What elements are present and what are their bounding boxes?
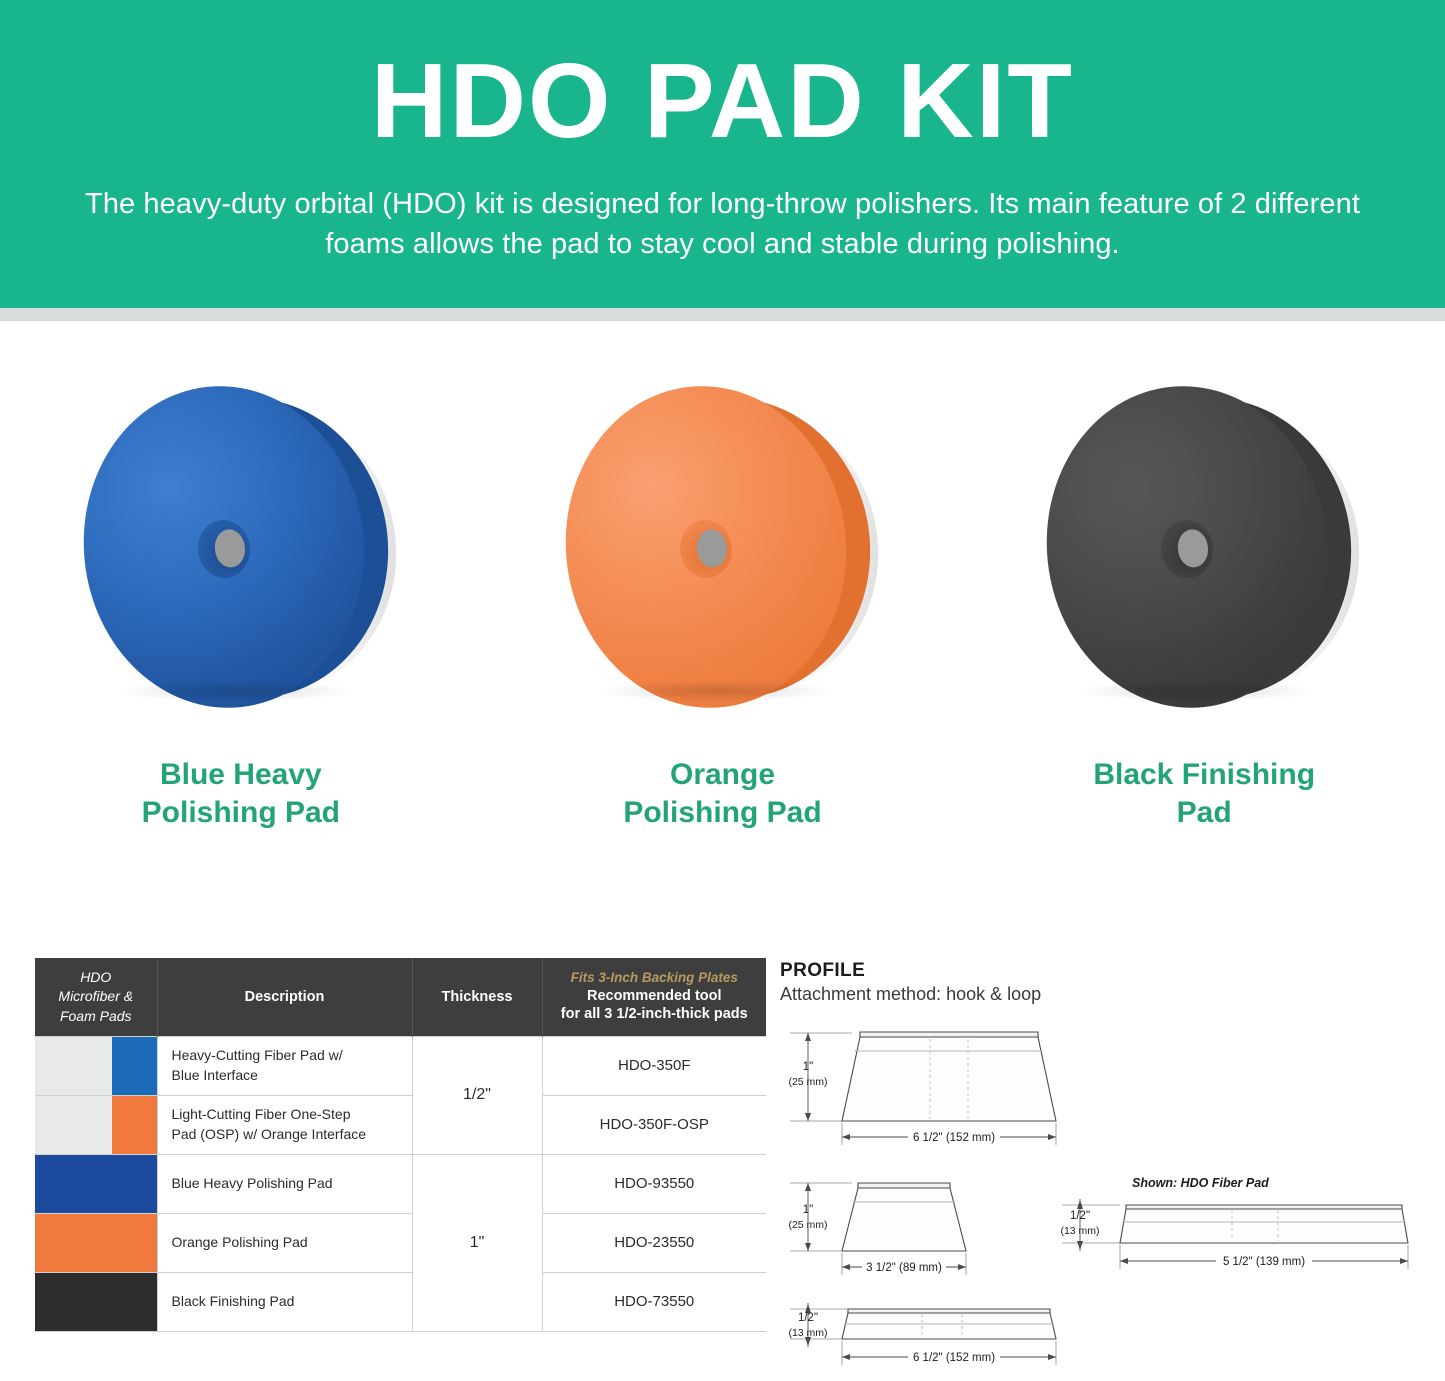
pad-label-black: Black Finishing Pad xyxy=(1093,756,1315,832)
disc-shadow xyxy=(1077,680,1317,702)
col-header-description: Description xyxy=(157,958,412,1036)
table-row: Heavy-Cutting Fiber Pad w/ Blue Interfac… xyxy=(35,1036,766,1095)
dim-height-mm: (13 mm) xyxy=(1060,1225,1099,1237)
dim-height-mm: (13 mm) xyxy=(788,1327,827,1339)
fiber-pad-profile: Shown: HDO Fiber Pad 1/2" (13 mm) 5 1/2"… xyxy=(1060,1176,1408,1269)
profile-diagrams: 1" (25 mm) 6 1/2" (152 mm) 1" (25 xyxy=(780,1019,1440,1349)
thickness-half-inch: 1/2" xyxy=(412,1036,542,1154)
dim-height-in: 1/2" xyxy=(798,1312,818,1324)
profile-section: PROFILE Attachment method: hook & loop 1… xyxy=(780,960,1440,1381)
dim-width: 5 1/2" (139 mm) xyxy=(1223,1256,1305,1268)
col-header-thickness: Thickness xyxy=(412,958,542,1036)
orange-foam-disc xyxy=(558,350,888,740)
row-tool-code: HDO-23550 xyxy=(542,1213,766,1272)
dim-height-mm: (25 mm) xyxy=(788,1076,827,1088)
fits-backing-plates-note: Fits 3-Inch Backing Plates xyxy=(549,970,761,985)
table-row: Light-Cutting Fiber One-Step Pad (OSP) w… xyxy=(35,1095,766,1154)
pad-label-blue: Blue Heavy Polishing Pad xyxy=(142,756,340,832)
pad-card-black: Black Finishing Pad xyxy=(963,350,1445,890)
row-description: Black Finishing Pad xyxy=(157,1272,412,1331)
pad-gallery: Blue Heavy Polishing Pad Orange Polishin… xyxy=(0,350,1445,890)
blue-foam-disc xyxy=(76,350,406,740)
disc-shadow xyxy=(114,680,354,702)
col-header-tool: Fits 3-Inch Backing Plates Recommended t… xyxy=(542,958,766,1036)
swatch-orange xyxy=(35,1213,157,1272)
dim-height-mm: (25 mm) xyxy=(788,1219,827,1231)
profile-title: PROFILE xyxy=(780,960,1440,982)
row-tool-code: HDO-350F xyxy=(542,1036,766,1095)
large-foam-pad-profile: 1" (25 mm) 6 1/2" (152 mm) xyxy=(788,1032,1056,1145)
shown-note: Shown: HDO Fiber Pad xyxy=(1132,1176,1269,1190)
black-foam-disc xyxy=(1039,350,1369,740)
table-header-row: HDO Microfiber & Foam Pads Description T… xyxy=(35,958,766,1036)
dim-width: 6 1/2" (152 mm) xyxy=(913,1132,995,1144)
row-description: Heavy-Cutting Fiber Pad w/ Blue Interfac… xyxy=(157,1036,412,1095)
bottom-dimension: 6 1/2" (152 mm) xyxy=(780,1341,1440,1381)
dim-width: 6 1/2" (152 mm) xyxy=(913,1352,995,1364)
row-tool-code: HDO-93550 xyxy=(542,1154,766,1213)
thickness-one-inch: 1" xyxy=(412,1154,542,1331)
pad-label-orange: Orange Polishing Pad xyxy=(623,756,821,832)
profile-subtitle: Attachment method: hook & loop xyxy=(780,984,1440,1005)
row-description: Blue Heavy Polishing Pad xyxy=(157,1154,412,1213)
small-foam-pad-profile: 1" (25 mm) 3 1/2" (89 mm) xyxy=(788,1183,966,1275)
dim-height-in: 1" xyxy=(803,1061,813,1073)
col-header-pads: HDO Microfiber & Foam Pads xyxy=(35,958,157,1036)
dim-height-in: 1/2" xyxy=(1070,1210,1090,1222)
pad-card-orange: Orange Polishing Pad xyxy=(482,350,964,890)
dim-height-in: 1" xyxy=(803,1204,813,1216)
pad-card-blue: Blue Heavy Polishing Pad xyxy=(0,350,482,890)
row-tool-code: HDO-73550 xyxy=(542,1272,766,1331)
page-title: HDO PAD KIT xyxy=(58,0,1387,154)
tool-head-line1: Recommended tool xyxy=(549,987,761,1006)
table-row: Orange Polishing Pad HDO-23550 xyxy=(35,1213,766,1272)
table-row: Blue Heavy Polishing Pad 1" HDO-93550 xyxy=(35,1154,766,1213)
row-tool-code: HDO-350F-OSP xyxy=(542,1095,766,1154)
header-subtitle: The heavy-duty orbital (HDO) kit is desi… xyxy=(58,154,1387,264)
header-banner: HDO PAD KIT The heavy-duty orbital (HDO)… xyxy=(0,0,1445,308)
tool-head-line2: for all 3 1/2-inch-thick pads xyxy=(549,1005,761,1024)
dim-width: 3 1/2" (89 mm) xyxy=(866,1262,942,1274)
swatch-black xyxy=(35,1272,157,1331)
header-divider xyxy=(0,308,1445,321)
swatch-fiber-blue xyxy=(35,1036,157,1095)
table-row: Black Finishing Pad HDO-73550 xyxy=(35,1272,766,1331)
spec-table: HDO Microfiber & Foam Pads Description T… xyxy=(35,958,766,1332)
row-description: Orange Polishing Pad xyxy=(157,1213,412,1272)
row-description: Light-Cutting Fiber One-Step Pad (OSP) w… xyxy=(157,1095,412,1154)
disc-shadow xyxy=(596,680,836,702)
swatch-blue xyxy=(35,1154,157,1213)
swatch-fiber-orange xyxy=(35,1095,157,1154)
